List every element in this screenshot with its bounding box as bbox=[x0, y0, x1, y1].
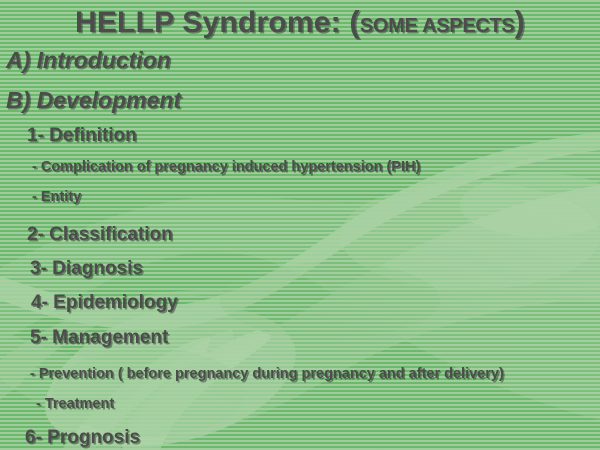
outline-item-classification[interactable]: 2- Classification bbox=[27, 225, 173, 244]
slide-title: HELLP Syndrome: (SOME ASPECTS) bbox=[0, 6, 600, 38]
outline-item-treatment[interactable]: - Treatment bbox=[36, 397, 114, 412]
outline-item-complication[interactable]: - Complication of pregnancy induced hype… bbox=[32, 160, 420, 175]
title-main: HELLP Syndrome: bbox=[75, 6, 341, 39]
outline-item-introduction[interactable]: A) Introduction bbox=[6, 49, 171, 72]
outline-item-prevention[interactable]: - Prevention ( before pregnancy during p… bbox=[30, 367, 504, 382]
title-subtitle: SOME ASPECTS bbox=[360, 15, 515, 37]
outline-item-management[interactable]: 5- Management bbox=[30, 328, 168, 347]
outline-item-definition[interactable]: 1- Definition bbox=[27, 126, 137, 145]
title-paren-open: ( bbox=[349, 4, 360, 39]
outline-item-entity[interactable]: - Entity bbox=[32, 190, 81, 205]
outline-item-development[interactable]: B) Development bbox=[6, 89, 181, 112]
outline-item-prognosis[interactable]: 6- Prognosis bbox=[25, 428, 140, 447]
outline-item-epidemiology[interactable]: 4- Epidemiology bbox=[31, 293, 178, 312]
outline-item-diagnosis[interactable]: 3- Diagnosis bbox=[30, 259, 143, 278]
slide-canvas: HELLP Syndrome: (SOME ASPECTS) A) Introd… bbox=[0, 0, 600, 450]
title-paren-close: ) bbox=[514, 4, 525, 39]
slide-content: HELLP Syndrome: (SOME ASPECTS) A) Introd… bbox=[0, 0, 600, 450]
